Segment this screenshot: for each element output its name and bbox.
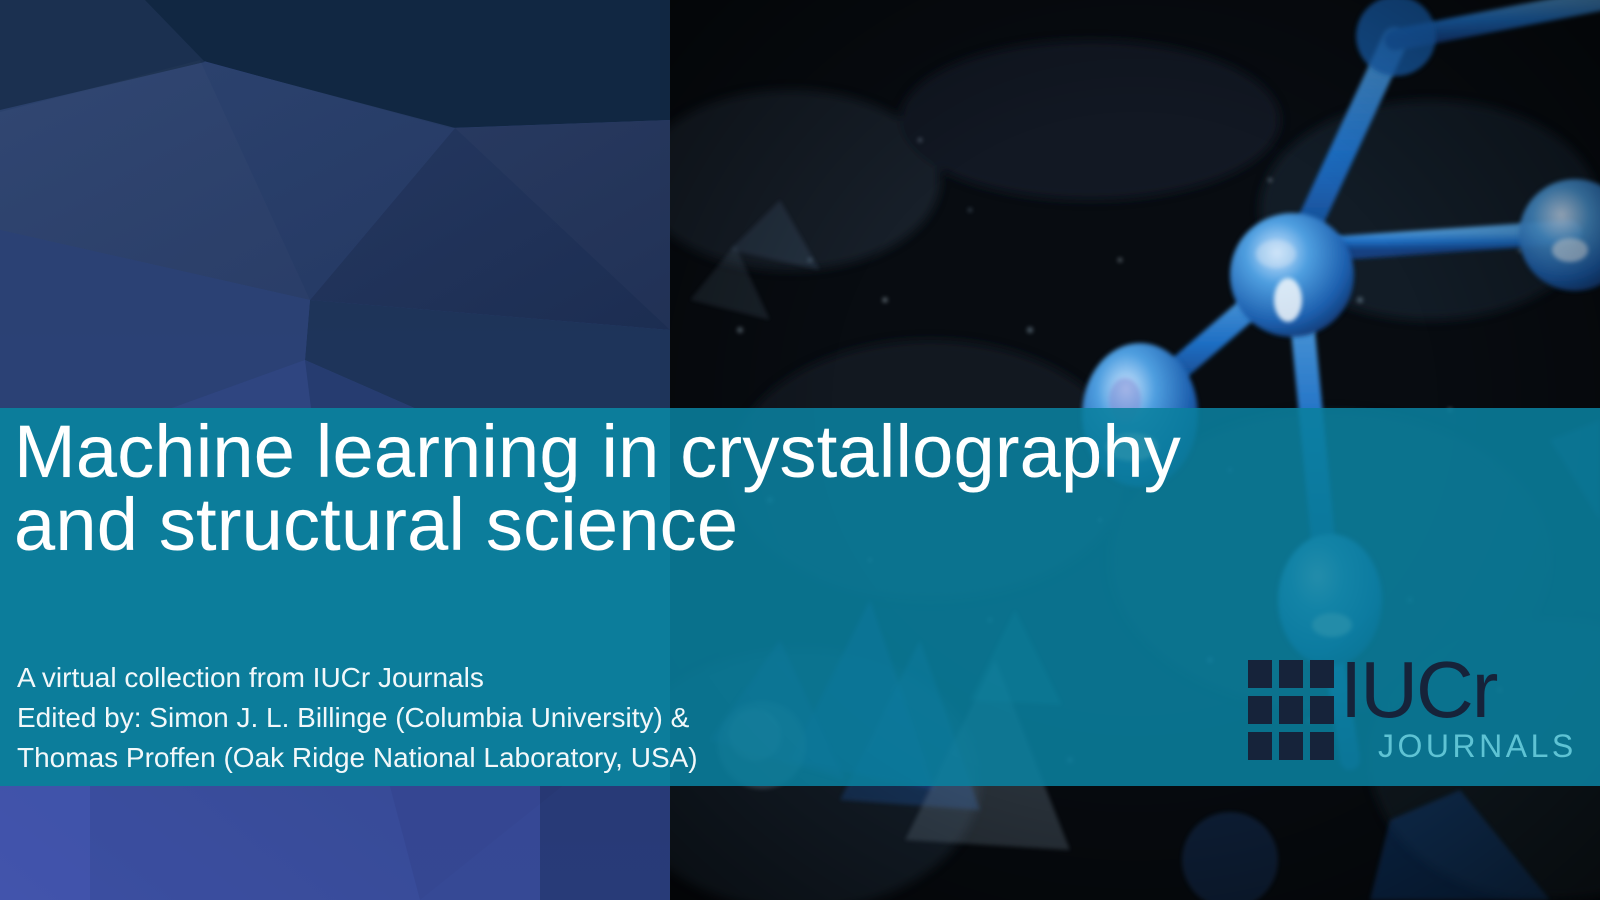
editors-line-2: Thomas Proffen (Oak Ridge National Labor… [17,738,1117,778]
subtitle-block: A virtual collection from IUCr Journals … [17,658,1117,777]
journals-label: JOURNALS [1378,730,1577,762]
editors-line-1: Edited by: Simon J. L. Billinge (Columbi… [17,698,1117,738]
iucr-wordmark: IUCr [1340,650,1496,730]
iucr-grid-icon [1248,660,1334,770]
page-title: Machine learning in crystallography and … [14,416,1434,561]
collection-line: A virtual collection from IUCr Journals [17,658,1117,698]
iucr-journals-logo: IUCr JOURNALS [1248,658,1548,770]
iucr-virtual-collection-cover: Machine learning in crystallography and … [0,0,1600,900]
